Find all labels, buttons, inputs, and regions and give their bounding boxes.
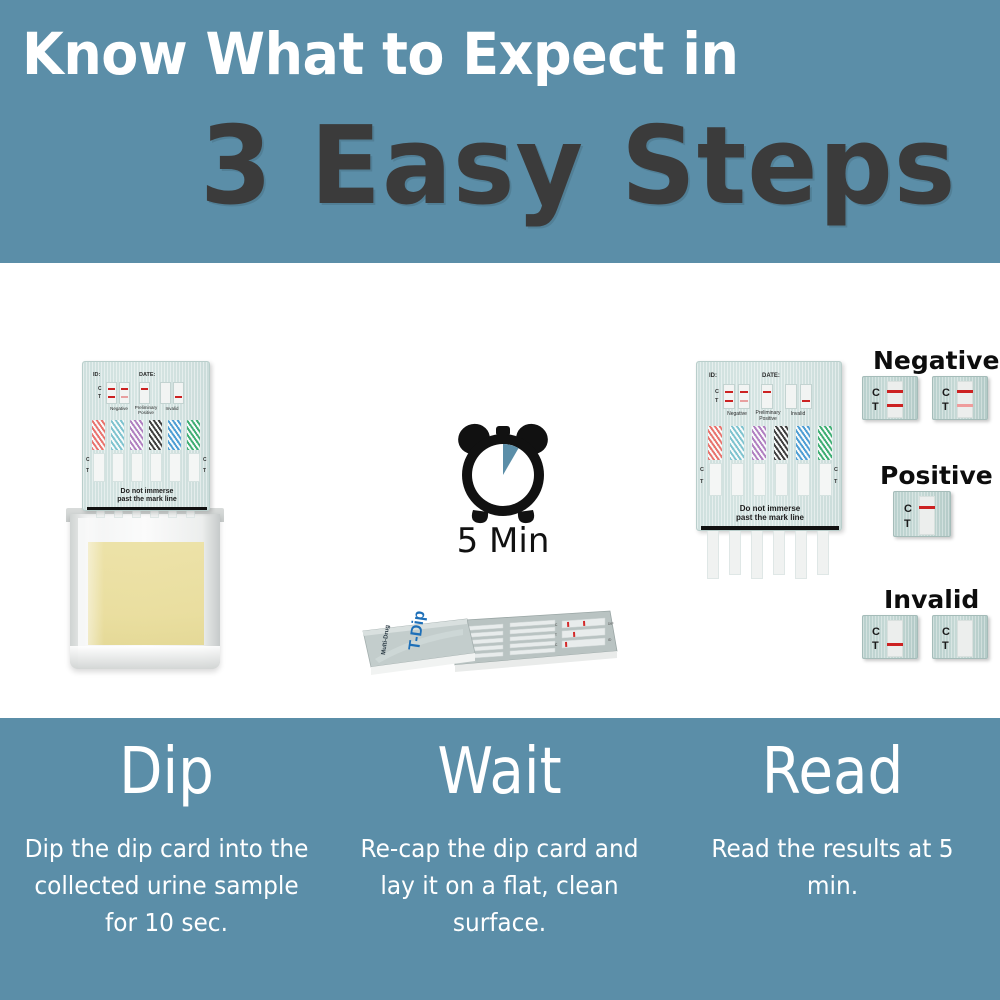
dip-card-front: ID: DATE: C T bbox=[82, 361, 210, 511]
result-t-label-left: T bbox=[86, 468, 89, 474]
timer-label: 5 Min bbox=[403, 521, 603, 561]
flat-dip-card-svg: C T C DIP ID T-Dip Multi-Drug bbox=[355, 593, 625, 683]
swatch-c-label: C bbox=[872, 626, 880, 638]
step-body-read: Read the results at 5 min. bbox=[687, 830, 978, 904]
illustration-stage: ID: DATE: C T bbox=[0, 263, 1000, 718]
drug-strip bbox=[818, 426, 832, 460]
immerse-warning-line2: past the mark line bbox=[83, 496, 211, 504]
dip-card-read: ID: DATE: C T Nega bbox=[696, 361, 842, 531]
extended-strip bbox=[707, 531, 719, 579]
header-banner: Know What to Expect in 3 Easy Steps bbox=[0, 0, 1000, 263]
extended-strip bbox=[817, 531, 829, 575]
result-swatch-positive: C T bbox=[893, 491, 951, 537]
legend-window-invalid-b bbox=[800, 384, 812, 409]
result-c-label-left: C bbox=[700, 467, 704, 473]
swatch-window bbox=[919, 496, 935, 535]
drug-strip bbox=[111, 420, 124, 450]
result-window bbox=[775, 463, 788, 496]
step-column-wait: Wait Re-cap the dip card and lay it on a… bbox=[333, 718, 666, 1000]
swatch-c-label: C bbox=[942, 626, 950, 638]
legend-window-negative-b bbox=[738, 384, 750, 409]
extended-strip bbox=[729, 531, 741, 575]
result-swatch-negative-b: C T bbox=[932, 376, 988, 420]
swatch-c-label: C bbox=[942, 387, 950, 399]
card-id-label: ID: bbox=[93, 372, 100, 378]
drug-strip bbox=[796, 426, 810, 460]
step-title-wait: Wait bbox=[353, 734, 646, 810]
swatch-c-label: C bbox=[904, 503, 912, 515]
swatch-t-line bbox=[887, 643, 903, 646]
result-t-label-right: T bbox=[203, 468, 206, 474]
swatch-t-label: T bbox=[872, 401, 879, 413]
immerse-warning: Do not immerse past the mark line bbox=[697, 504, 843, 522]
result-window bbox=[131, 453, 143, 482]
alarm-clock-svg bbox=[443, 418, 563, 528]
urine-sample bbox=[88, 542, 204, 645]
result-swatch-invalid-b: C T bbox=[932, 615, 988, 659]
result-title-invalid: Invalid bbox=[884, 585, 979, 614]
legend-window-negative-b bbox=[119, 382, 130, 404]
result-swatch-negative-a: C T bbox=[862, 376, 918, 420]
result-window bbox=[188, 453, 200, 482]
step-title-read: Read bbox=[686, 734, 979, 810]
flat-dip-card: C T C DIP ID T-Dip Multi-Drug bbox=[355, 593, 625, 683]
legend-window-preliminary-positive bbox=[761, 384, 773, 409]
result-c-label-left: C bbox=[86, 457, 90, 463]
mark-line bbox=[87, 507, 207, 510]
step-body-dip: Dip the dip card into the collected urin… bbox=[21, 830, 312, 941]
drug-strip bbox=[187, 420, 200, 450]
result-window bbox=[169, 453, 181, 482]
alarm-clock-icon bbox=[443, 418, 563, 528]
legend-label-preliminary-positive: Preliminary Positive bbox=[754, 411, 782, 422]
swatch-c-line bbox=[919, 506, 935, 509]
result-c-label-right: C bbox=[834, 467, 838, 473]
drug-strip bbox=[130, 420, 143, 450]
legend-window-negative-a bbox=[723, 384, 735, 409]
legend-window-invalid-a bbox=[160, 382, 171, 404]
headline-primary: Know What to Expect in bbox=[22, 22, 915, 86]
legend-label-preliminary-positive-text: Preliminary Positive bbox=[135, 405, 158, 415]
legend-window-negative-a bbox=[106, 382, 117, 404]
headline-secondary: 3 Easy Steps bbox=[200, 108, 958, 226]
card-date-label: DATE: bbox=[762, 373, 780, 379]
extended-strip bbox=[795, 531, 807, 579]
swatch-t-line bbox=[887, 404, 903, 407]
card-date-label: DATE: bbox=[139, 372, 155, 378]
swatch-t-label: T bbox=[942, 401, 949, 413]
step-column-dip: Dip Dip the dip card into the collected … bbox=[0, 718, 333, 1000]
legend-t-label: T bbox=[715, 398, 718, 404]
swatch-window bbox=[957, 620, 973, 657]
step-body-wait: Re-cap the dip card and lay it on a flat… bbox=[354, 830, 645, 941]
legend-t-label: T bbox=[98, 394, 101, 400]
legend-window-invalid-a bbox=[785, 384, 797, 409]
result-window bbox=[93, 453, 105, 482]
legend-window-preliminary-positive bbox=[139, 382, 150, 404]
result-title-negative: Negative bbox=[873, 346, 999, 375]
step-title-dip: Dip bbox=[20, 734, 313, 810]
immerse-warning-line1: Do not immerse bbox=[697, 504, 843, 513]
legend-c-label: C bbox=[98, 386, 102, 392]
legend-label-negative: Negative bbox=[105, 406, 133, 411]
result-window bbox=[819, 463, 832, 496]
legend-label-invalid: Invalid bbox=[159, 406, 185, 411]
result-t-label-left: T bbox=[700, 479, 703, 485]
swatch-c-line bbox=[887, 390, 903, 393]
legend-label-preliminary-positive: Preliminary Positive bbox=[133, 406, 159, 416]
result-window bbox=[709, 463, 722, 496]
extended-strip bbox=[773, 531, 785, 575]
swatch-c-label: C bbox=[872, 387, 880, 399]
legend-window-invalid-b bbox=[173, 382, 184, 404]
step-column-read: Read Read the results at 5 min. bbox=[666, 718, 999, 1000]
result-c-label-right: C bbox=[203, 457, 207, 463]
steps-banner: Dip Dip the dip card into the collected … bbox=[0, 718, 1000, 1000]
mark-line bbox=[701, 526, 839, 530]
drug-strip bbox=[149, 420, 162, 450]
legend-c-label: C bbox=[715, 389, 719, 395]
immerse-warning-line1: Do not immerse bbox=[83, 488, 211, 496]
drug-strip bbox=[92, 420, 105, 450]
result-window bbox=[797, 463, 810, 496]
cup-base bbox=[70, 646, 220, 669]
result-title-positive: Positive bbox=[880, 461, 993, 490]
drug-strip bbox=[752, 426, 766, 460]
immerse-warning-line2: past the mark line bbox=[697, 513, 843, 522]
result-window bbox=[150, 453, 162, 482]
legend-label-invalid: Invalid bbox=[784, 411, 812, 417]
result-window bbox=[731, 463, 744, 496]
swatch-t-label: T bbox=[904, 518, 911, 530]
drug-strip bbox=[730, 426, 744, 460]
svg-text:T: T bbox=[555, 633, 557, 637]
drug-strip bbox=[774, 426, 788, 460]
drug-strip bbox=[168, 420, 181, 450]
swatch-window bbox=[887, 381, 903, 418]
extended-strip bbox=[751, 531, 763, 579]
result-window bbox=[753, 463, 766, 496]
legend-label-negative: Negative bbox=[722, 411, 752, 417]
swatch-window bbox=[957, 381, 973, 418]
drug-strip bbox=[708, 426, 722, 460]
swatch-c-line bbox=[957, 390, 973, 393]
swatch-t-line-faint bbox=[957, 404, 973, 407]
card-id-label: ID: bbox=[709, 373, 717, 379]
result-window bbox=[112, 453, 124, 482]
svg-text:DIP: DIP bbox=[608, 622, 615, 626]
urine-cup bbox=[70, 514, 220, 669]
result-swatch-invalid-a: C T bbox=[862, 615, 918, 659]
immerse-warning: Do not immerse past the mark line bbox=[83, 488, 211, 504]
swatch-t-label: T bbox=[872, 640, 879, 652]
result-t-label-right: T bbox=[834, 479, 837, 485]
swatch-window bbox=[887, 620, 903, 657]
swatch-t-label: T bbox=[942, 640, 949, 652]
